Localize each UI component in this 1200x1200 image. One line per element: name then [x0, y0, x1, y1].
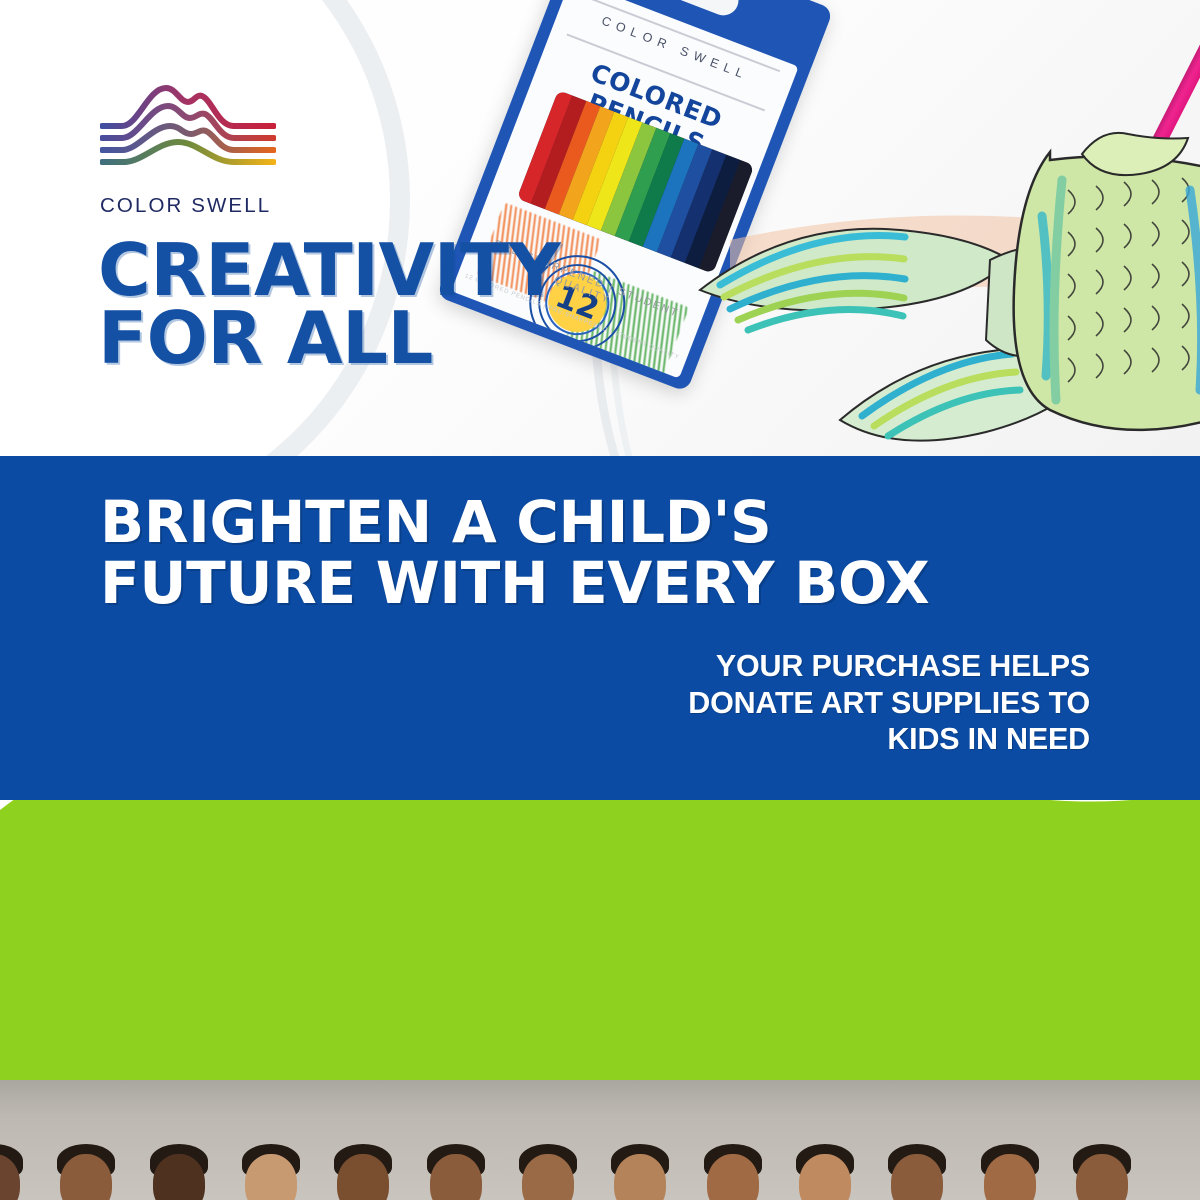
child-head	[614, 1154, 666, 1200]
child-head	[430, 1154, 482, 1200]
child-head	[707, 1154, 759, 1200]
banner-subtext: YOUR PURCHASE HELPS DONATE ART SUPPLIES …	[670, 648, 1090, 758]
child-head	[245, 1154, 297, 1200]
child-head	[337, 1154, 389, 1200]
fish-tail-drawing	[690, 120, 1200, 460]
page-title: CREATIVITY FOR ALL	[98, 237, 560, 372]
promo-poster: COLOR SWELL CREATIVITY FOR ALL COLOR SWE…	[0, 0, 1200, 1200]
banner-headline-line-2: FUTURE WITH EVERY BOX	[100, 553, 929, 614]
child-head	[1076, 1154, 1128, 1200]
swell-waves-logo-icon	[100, 80, 276, 190]
brand-wordmark: COLOR SWELL	[100, 194, 285, 218]
child-head	[60, 1154, 112, 1200]
child-head	[153, 1154, 205, 1200]
headline-line-2: FOR ALL	[98, 305, 560, 373]
donation-banner: BRIGHTEN A CHILD'S FUTURE WITH EVERY BOX…	[0, 456, 1200, 800]
banner-subtext-line-2: DONATE ART SUPPLIES TO	[670, 685, 1090, 722]
banner-headline-line-1: BRIGHTEN A CHILD'S	[100, 492, 929, 553]
banner-subtext-line-1: YOUR PURCHASE HELPS	[670, 648, 1090, 685]
banner-subtext-line-3: KIDS IN NEED	[670, 721, 1090, 758]
brand-logo[interactable]: COLOR SWELL	[100, 80, 285, 218]
child-head	[984, 1154, 1036, 1200]
banner-headline: BRIGHTEN A CHILD'S FUTURE WITH EVERY BOX	[100, 492, 929, 615]
child-head	[522, 1154, 574, 1200]
child-head	[799, 1154, 851, 1200]
child-head	[891, 1154, 943, 1200]
